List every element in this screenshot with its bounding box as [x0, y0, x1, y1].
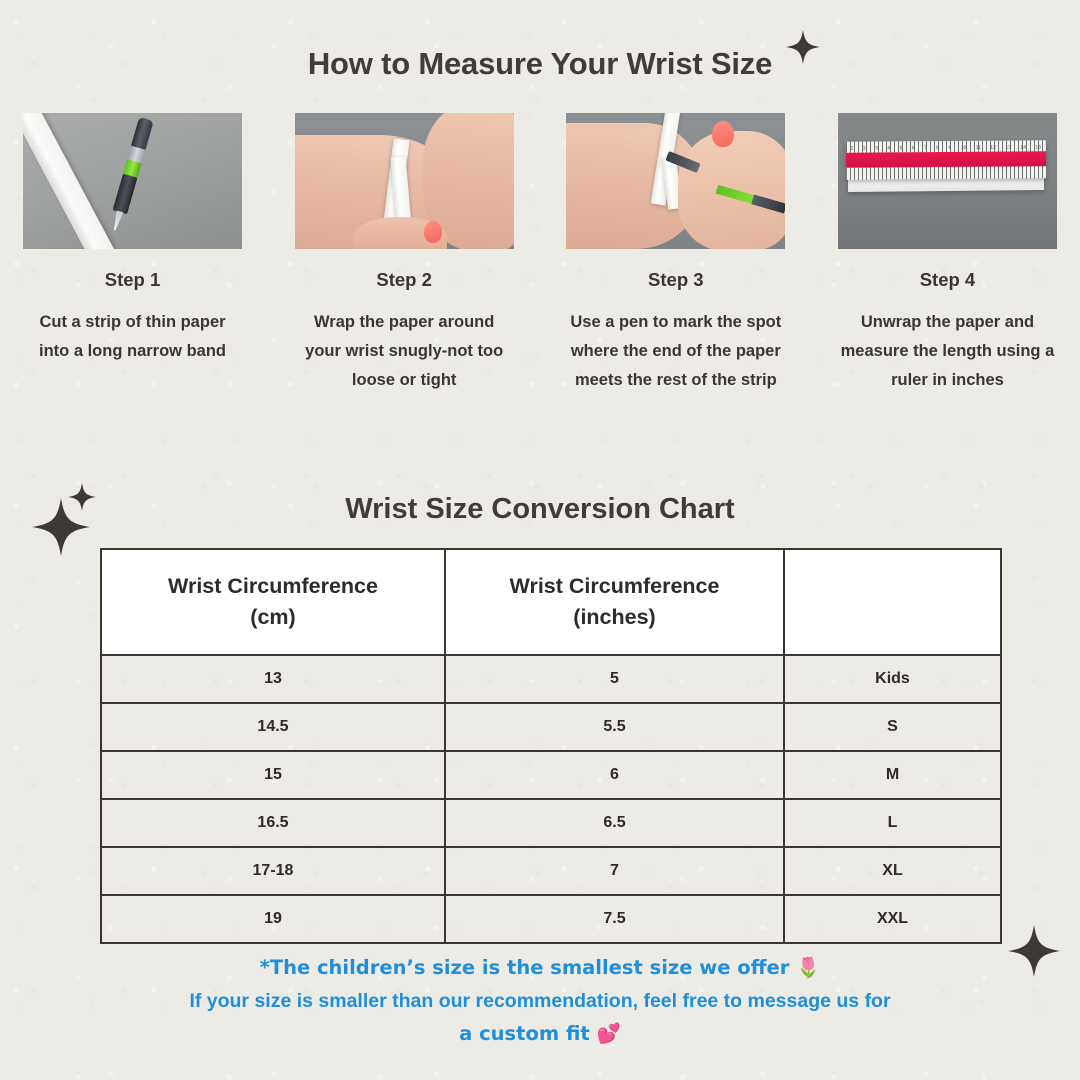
cell-inches: 7: [445, 847, 784, 895]
cell-size: Kids: [784, 655, 1001, 703]
cell-cm: 16.5: [101, 799, 445, 847]
step-description-3: Use a pen to mark the spot where the end…: [569, 308, 783, 395]
step-label-4: Step 4: [920, 269, 976, 291]
page-title: How to Measure Your Wrist Size: [0, 46, 1080, 82]
cell-cm: 17-18: [101, 847, 445, 895]
wrist-wrapped-with-paper-photo: [295, 113, 514, 249]
step-label-1: Step 1: [105, 269, 161, 291]
step-description-2: Wrap the paper around your wrist snugly-…: [297, 308, 511, 395]
cell-inches: 7.5: [445, 895, 784, 943]
ruler-measuring-paper-photo: 123456 789101112 131415: [838, 113, 1057, 249]
cell-size: L: [784, 799, 1001, 847]
cell-size: XXL: [784, 895, 1001, 943]
table-row: 15 6 M: [101, 751, 1001, 799]
footer-note: *The children’s size is the smallest siz…: [60, 952, 1020, 1050]
footer-line-3: a custom fit 💕: [60, 1018, 1020, 1051]
step-description-1: Cut a strip of thin paper into a long na…: [26, 308, 240, 366]
step-description-4: Unwrap the paper and measure the length …: [840, 308, 1054, 395]
step-card-1: Step 1 Cut a strip of thin paper into a …: [23, 113, 242, 395]
step-card-2: Step 2 Wrap the paper around your wrist …: [295, 113, 514, 395]
cell-size: S: [784, 703, 1001, 751]
step-card-4: 123456 789101112 131415 Step 4 Unwrap th…: [838, 113, 1057, 395]
table-row: 16.5 6.5 L: [101, 799, 1001, 847]
cell-inches: 5: [445, 655, 784, 703]
table-row: 17-18 7 XL: [101, 847, 1001, 895]
cell-inches: 6.5: [445, 799, 784, 847]
cell-cm: 15: [101, 751, 445, 799]
cell-inches: 6: [445, 751, 784, 799]
cell-cm: 13: [101, 655, 445, 703]
table-row: 13 5 Kids: [101, 655, 1001, 703]
steps-row: Step 1 Cut a strip of thin paper into a …: [23, 113, 1057, 395]
footer-line-2: If your size is smaller than our recomme…: [60, 985, 1020, 1018]
marking-paper-with-pen-photo: [566, 113, 785, 249]
chart-title: Wrist Size Conversion Chart: [0, 493, 1080, 526]
cell-size: M: [784, 751, 1001, 799]
column-header-inches: Wrist Circumference (inches): [445, 549, 784, 655]
wrist-size-conversion-table: Wrist Circumference (cm) Wrist Circumfer…: [100, 548, 1002, 944]
step-label-2: Step 2: [376, 269, 432, 291]
step-card-3: Step 3 Use a pen to mark the spot where …: [566, 113, 785, 395]
cell-inches: 5.5: [445, 703, 784, 751]
table-header-row: Wrist Circumference (cm) Wrist Circumfer…: [101, 549, 1001, 655]
column-header-cm: Wrist Circumference (cm): [101, 549, 445, 655]
column-header-size: [784, 549, 1001, 655]
cell-cm: 19: [101, 895, 445, 943]
paper-strip-and-pen-photo: [23, 113, 242, 249]
table-row: 14.5 5.5 S: [101, 703, 1001, 751]
cell-cm: 14.5: [101, 703, 445, 751]
step-label-3: Step 3: [648, 269, 704, 291]
footer-line-1: *The children’s size is the smallest siz…: [60, 952, 1020, 985]
table-row: 19 7.5 XXL: [101, 895, 1001, 943]
cell-size: XL: [784, 847, 1001, 895]
